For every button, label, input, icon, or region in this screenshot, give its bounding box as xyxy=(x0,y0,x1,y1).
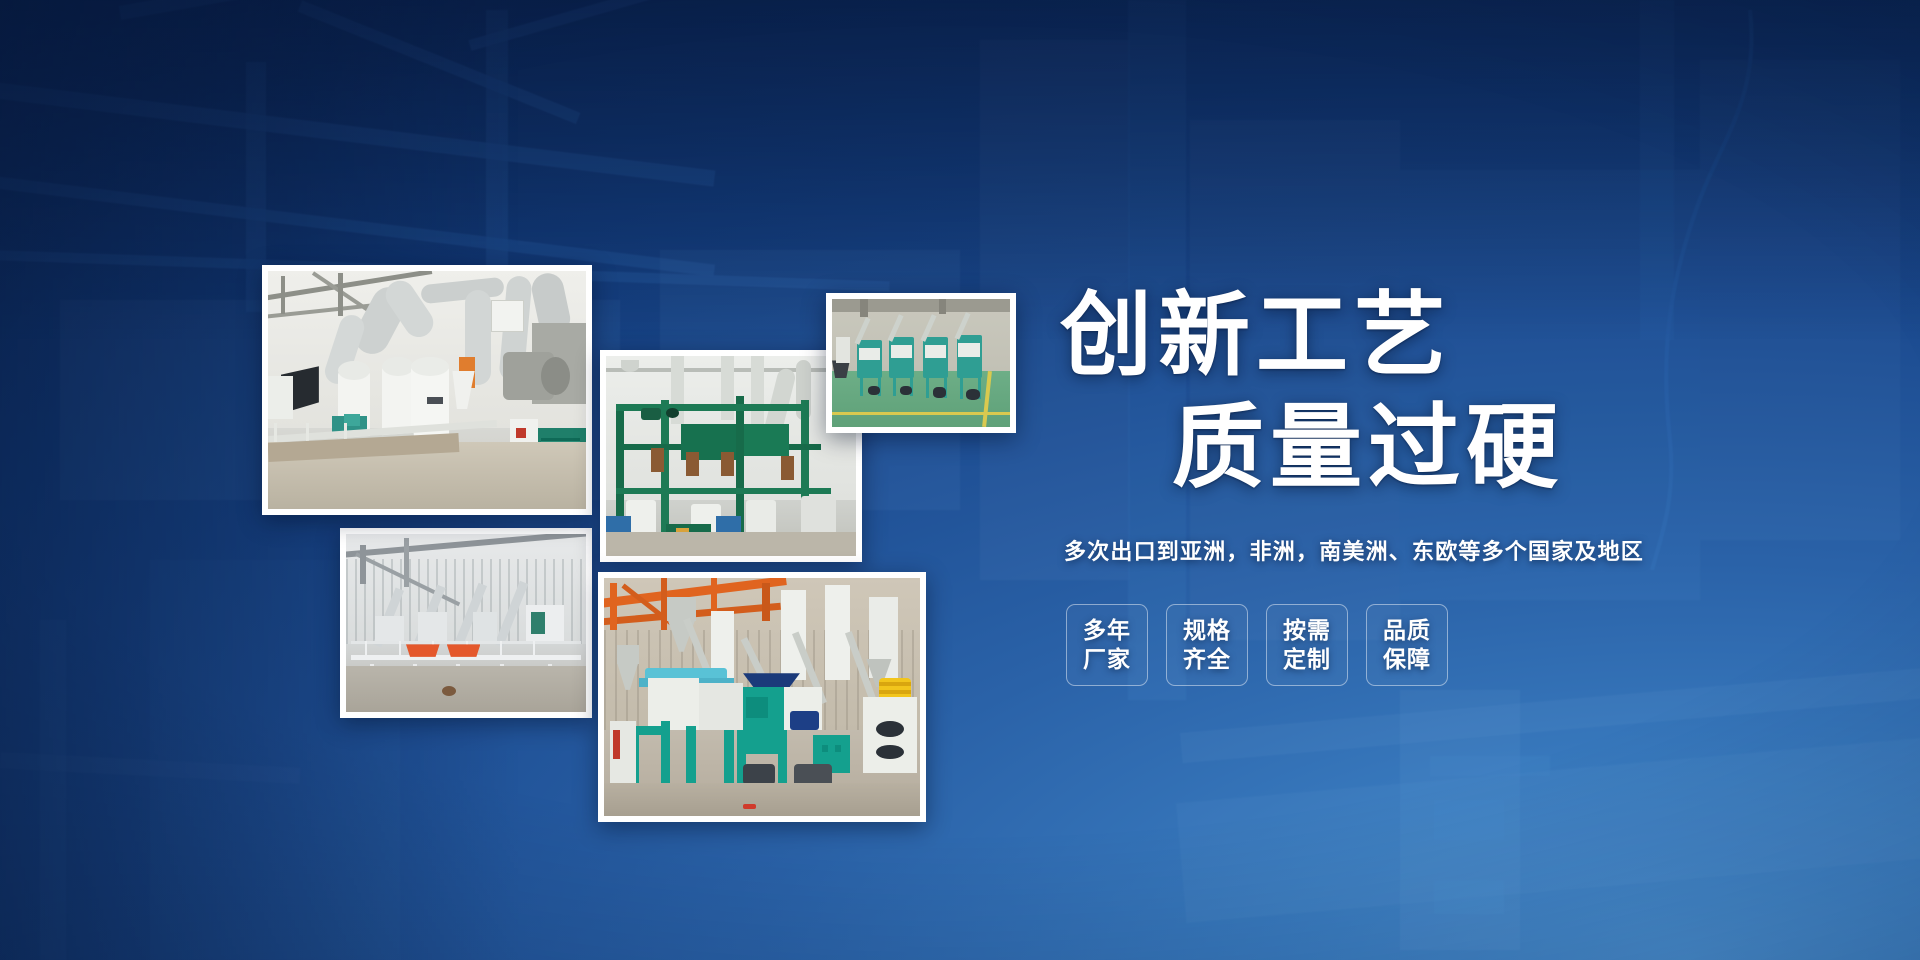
photo-teal-machines-green-floor xyxy=(826,293,1016,433)
headline: 创新工艺 质量过硬 xyxy=(1060,280,1780,504)
badge-text-bottom: 厂家 xyxy=(1083,645,1131,674)
photo-green-frame-flour-mill xyxy=(600,350,862,562)
feature-badge-list: 多年 厂家 规格 齐全 按需 定制 品质 保障 xyxy=(1060,604,1780,686)
badge-text-bottom: 定制 xyxy=(1283,645,1331,674)
feature-badge-full-specifications[interactable]: 规格 齐全 xyxy=(1166,604,1248,686)
feature-badge-custom-made[interactable]: 按需 定制 xyxy=(1266,604,1348,686)
feature-badge-quality-assurance[interactable]: 品质 保障 xyxy=(1366,604,1448,686)
badge-text-bottom: 齐全 xyxy=(1183,645,1231,674)
photo-collage xyxy=(0,0,1100,960)
headline-line-2: 质量过硬 xyxy=(1060,392,1780,504)
feature-badge-years-manufacturer[interactable]: 多年 厂家 xyxy=(1066,604,1148,686)
badge-text-top: 按需 xyxy=(1283,616,1331,645)
promo-banner: 创新工艺 质量过硬 多次出口到亚洲，非洲，南美洲、东欧等多个国家及地区 多年 厂… xyxy=(0,0,1920,960)
photo-teal-machines-orange-beams xyxy=(598,572,926,822)
badge-text-top: 多年 xyxy=(1083,616,1131,645)
badge-text-top: 品质 xyxy=(1383,616,1431,645)
badge-text-top: 规格 xyxy=(1183,616,1231,645)
headline-line-1: 创新工艺 xyxy=(1060,280,1780,392)
subtitle: 多次出口到亚洲，非洲，南美洲、东欧等多个国家及地区 xyxy=(1060,534,1780,566)
badge-text-bottom: 保障 xyxy=(1383,645,1431,674)
photo-milling-line-with-ducting xyxy=(262,265,592,515)
banner-text-block: 创新工艺 质量过硬 多次出口到亚洲，非洲，南美洲、东欧等多个国家及地区 多年 厂… xyxy=(1060,280,1780,686)
photo-warehouse-processing-line xyxy=(340,528,592,718)
